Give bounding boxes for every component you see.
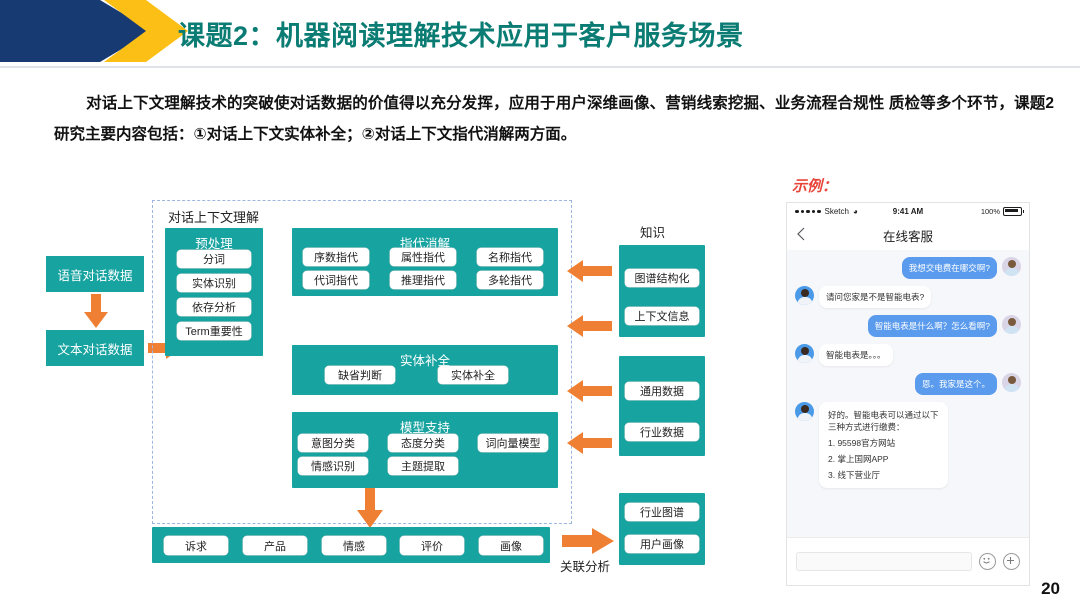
chat-bubble: 智能电表是什么啊？怎么看啊? [868, 315, 997, 337]
pill-label: Term重要性 [185, 323, 242, 339]
arrow-left-knowledge-4 [567, 432, 612, 454]
pill-output-3[interactable]: 评价 [400, 536, 464, 555]
battery-icon [1003, 207, 1022, 216]
chat-thread[interactable]: 我想交电费在哪交啊? 请问您家是不是智能电表? 智能电表是什么啊？怎么看啊? 智… [787, 250, 1029, 537]
relation-analysis-label: 关联分析 [560, 556, 610, 575]
avatar-agent [795, 286, 814, 305]
avatar-user [1002, 373, 1021, 392]
pill-preprocess-3[interactable]: Term重要性 [177, 322, 251, 340]
pill-label: 序数指代 [314, 249, 358, 265]
architecture-diagram: 语音对话数据 文本对话数据 对话上下文理解 预处理 分词 实体识别 依存分析 T… [0, 160, 760, 590]
pill-label: 产品 [264, 538, 286, 554]
slide-header: 课题2：机器阅读理解技术应用于客户服务场景 [0, 0, 1080, 68]
pill-coref-3[interactable]: 代词指代 [303, 271, 369, 289]
pill-label: 评价 [421, 538, 443, 554]
arrow-left-knowledge-3 [567, 380, 612, 402]
pill-model-0[interactable]: 意图分类 [298, 434, 368, 452]
phone-nav-bar: 在线客服 [787, 220, 1029, 251]
chat-bubble: 智能电表是。。。 [819, 344, 893, 366]
pill-label: 依存分析 [192, 299, 236, 315]
plus-icon[interactable] [1003, 553, 1020, 570]
chat-bubble: 我想交电费在哪交啊? [902, 257, 997, 279]
pill-knowledge-5[interactable]: 用户画像 [625, 535, 699, 553]
lead-paragraph: 对话上下文理解技术的突破使对话数据的价值得以充分发挥，应用于用户深维画像、营销线… [54, 88, 1054, 150]
pill-model-4[interactable]: 主题提取 [388, 457, 458, 475]
pill-preprocess-1[interactable]: 实体识别 [177, 274, 251, 292]
pill-model-1[interactable]: 态度分类 [388, 434, 458, 452]
pill-model-2[interactable]: 词向量模型 [478, 434, 548, 452]
chat-message-agent: 智能电表是。。。 [795, 344, 1021, 366]
smiley-icon[interactable] [979, 553, 996, 570]
pill-label: 主题提取 [401, 458, 445, 474]
avatar-user [1002, 315, 1021, 334]
pill-label: 分词 [203, 251, 225, 267]
avatar-agent [795, 402, 814, 421]
input-box-text: 文本对话数据 [46, 330, 144, 366]
chat-title: 在线客服 [787, 220, 1029, 250]
phone-mockup: Sketch ◕ 9:41 AM 100% 在线客服 我想交电费在哪交啊? 请问… [786, 202, 1030, 586]
pill-label: 词向量模型 [486, 435, 541, 451]
pill-coref-0[interactable]: 序数指代 [303, 248, 369, 266]
avatar-user [1002, 257, 1021, 276]
pill-label: 情感识别 [311, 458, 355, 474]
pill-knowledge-0[interactable]: 图谱结构化 [625, 269, 699, 287]
arrow-left-knowledge-2 [567, 315, 612, 337]
pill-output-4[interactable]: 画像 [479, 536, 543, 555]
bubble-list-item: 2. 掌上国网APP [828, 453, 939, 465]
pill-label: 推理指代 [401, 272, 445, 288]
arrow-down-voice-to-text [84, 294, 108, 328]
message-input[interactable] [796, 552, 972, 571]
chat-message-agent: 请问您家是不是智能电表? [795, 286, 1021, 308]
pill-completion-0[interactable]: 缺省判断 [325, 366, 395, 384]
pill-completion-1[interactable]: 实体补全 [438, 366, 508, 384]
bubble-line: 三种方式进行缴费： [828, 421, 939, 433]
chat-bubble: 请问您家是不是智能电表? [819, 286, 931, 308]
status-battery: 100% [981, 207, 1022, 216]
pill-preprocess-0[interactable]: 分词 [177, 250, 251, 268]
chat-message-user: 恩。我家是这个。 [795, 373, 1021, 395]
input-box-text-label: 文本对话数据 [57, 339, 132, 358]
chat-message-user: 我想交电费在哪交啊? [795, 257, 1021, 279]
pill-coref-4[interactable]: 推理指代 [390, 271, 456, 289]
pill-label: 行业图谱 [640, 504, 684, 520]
pill-output-1[interactable]: 产品 [243, 536, 307, 555]
pill-label: 通用数据 [640, 383, 684, 399]
page-number: 20 [1041, 579, 1060, 599]
pill-label: 上下文信息 [635, 308, 690, 324]
pill-label: 多轮指代 [488, 272, 532, 288]
pill-model-3[interactable]: 情感识别 [298, 457, 368, 475]
page-title: 课题2：机器阅读理解技术应用于客户服务场景 [178, 7, 1028, 59]
pill-label: 属性指代 [401, 249, 445, 265]
pill-label: 行业数据 [640, 424, 684, 440]
input-box-voice: 语音对话数据 [46, 256, 144, 292]
pill-knowledge-4[interactable]: 行业图谱 [625, 503, 699, 521]
pill-coref-5[interactable]: 多轮指代 [477, 271, 543, 289]
lead-line-1: 对话上下文理解技术的突破使对话数据的价值得以充分发挥，应用于用户深维画像、营销线… [86, 95, 884, 112]
pill-coref-2[interactable]: 名称指代 [477, 248, 543, 266]
pill-label: 代词指代 [314, 272, 358, 288]
pill-knowledge-1[interactable]: 上下文信息 [625, 307, 699, 325]
bubble-line: 好的。智能电表可以通过以下 [828, 409, 939, 421]
chat-bubble: 好的。智能电表可以通过以下 三种方式进行缴费： 1. 95598官方网站 2. … [819, 402, 948, 488]
bubble-list-item: 1. 95598官方网站 [828, 437, 939, 449]
pill-label: 实体识别 [192, 275, 236, 291]
example-label: 示例： [792, 175, 837, 196]
bubble-list-item: 3. 线下营业厅 [828, 469, 939, 481]
pill-label: 意图分类 [311, 435, 355, 451]
phone-status-bar: Sketch ◕ 9:41 AM 100% [787, 203, 1029, 220]
battery-percent-label: 100% [981, 207, 1000, 216]
header-divider [0, 66, 1080, 68]
arrow-left-knowledge-1 [567, 260, 612, 282]
pill-knowledge-3[interactable]: 行业数据 [625, 423, 699, 441]
input-box-voice-label: 语音对话数据 [57, 265, 132, 284]
pill-label: 缺省判断 [338, 367, 382, 383]
chat-bubble: 恩。我家是这个。 [915, 373, 997, 395]
pill-label: 图谱结构化 [635, 270, 690, 286]
group-knowledge-2 [619, 356, 705, 456]
chat-message-agent-long: 好的。智能电表可以通过以下 三种方式进行缴费： 1. 95598官方网站 2. … [795, 402, 1021, 488]
pill-output-0[interactable]: 诉求 [164, 536, 228, 555]
pill-output-2[interactable]: 情感 [322, 536, 386, 555]
arrow-right-relation [562, 528, 614, 554]
avatar-agent [795, 344, 814, 363]
pill-coref-1[interactable]: 属性指代 [390, 248, 456, 266]
pill-label: 名称指代 [488, 249, 532, 265]
pill-label: 画像 [500, 538, 522, 554]
pill-label: 实体补全 [451, 367, 495, 383]
pill-preprocess-2[interactable]: 依存分析 [177, 298, 251, 316]
chat-message-user: 智能电表是什么啊？怎么看啊? [795, 315, 1021, 337]
pipeline-container-title: 对话上下文理解 [168, 207, 259, 226]
pill-label: 情感 [343, 538, 365, 554]
pill-knowledge-2[interactable]: 通用数据 [625, 382, 699, 400]
pill-label: 用户画像 [640, 536, 684, 552]
chat-input-bar [787, 537, 1029, 585]
pill-label: 态度分类 [401, 435, 445, 451]
arrow-down-to-outputs [357, 488, 383, 528]
knowledge-title: 知识 [640, 222, 665, 241]
pill-label: 诉求 [185, 538, 207, 554]
